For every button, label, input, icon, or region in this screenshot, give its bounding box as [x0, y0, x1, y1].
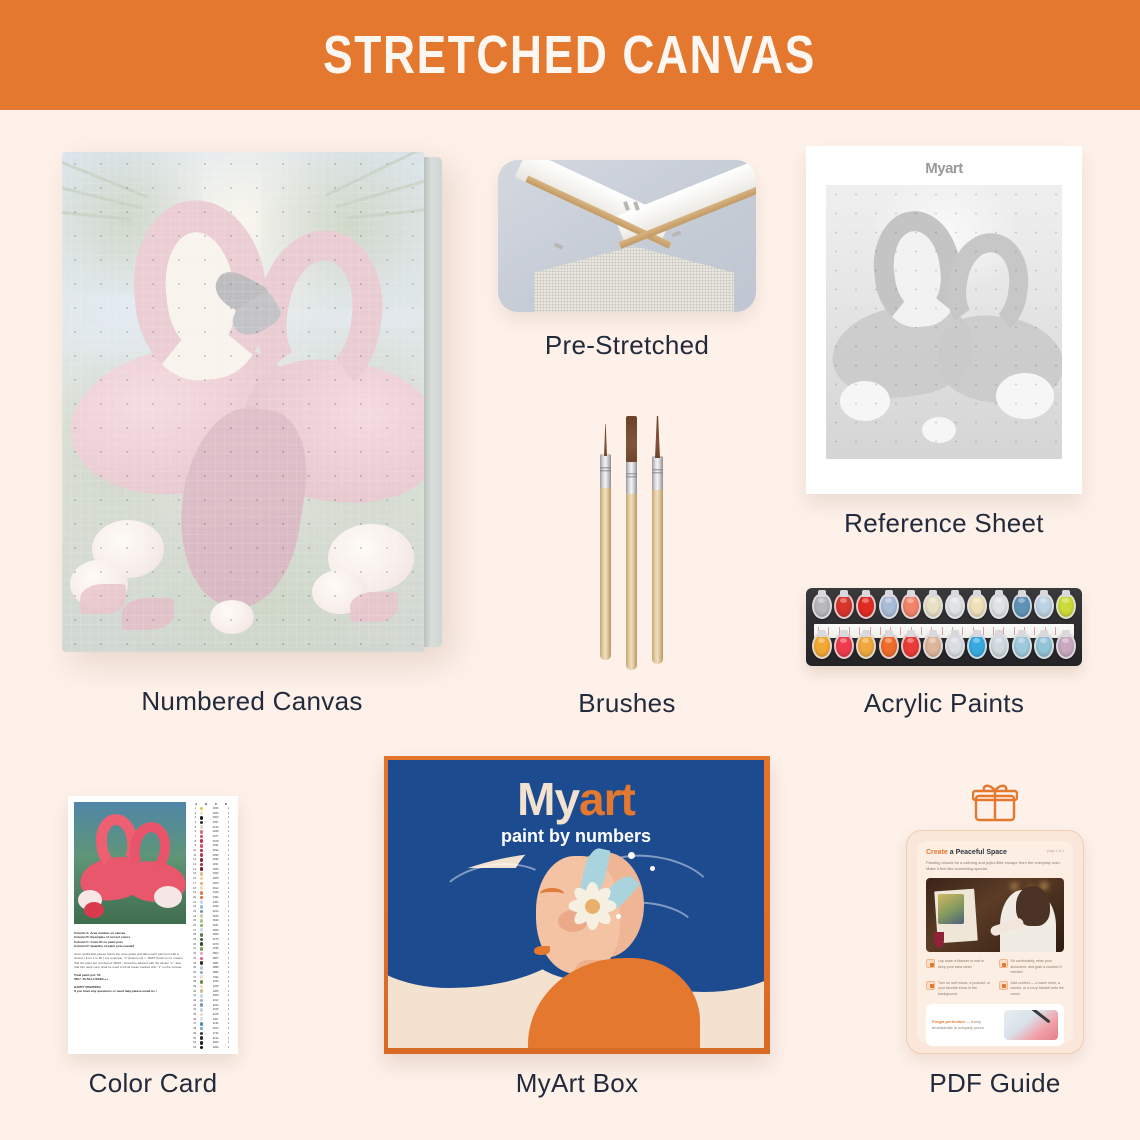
cc-note: when applicable,please follow the color … [74, 952, 186, 970]
paint-pot [901, 593, 921, 619]
pre-stretched-image [498, 160, 756, 312]
decor-dot [650, 866, 655, 871]
brush-ferrule [626, 460, 637, 494]
brush-bristles [626, 416, 637, 462]
myart-logo-text: Myart [826, 160, 1062, 177]
pdf-footer-text: Forget perfection — every brushstroke is… [932, 1019, 998, 1031]
cc-flower [84, 902, 104, 918]
color-card-instructions: Column A: Area number on canvas Column B… [74, 928, 186, 994]
paint-row-top [812, 593, 1076, 621]
cc-sku: SKU: 40-50-LUXS26+++ [74, 977, 108, 981]
label-numbered-canvas: Numbered Canvas [62, 686, 442, 717]
box-subtitle: paint by numbers [388, 826, 764, 847]
reference-artwork [826, 185, 1062, 459]
pdf-tips-grid: Lay down a blanket or mat to keep your a… [926, 959, 1064, 997]
pdf-tip: Sit comfortably, relax your shoulders, a… [999, 959, 1065, 976]
pdf-heading-highlight: Create [926, 849, 948, 856]
acrylic-paints-image [806, 588, 1082, 666]
reference-sheet-image: Myart [806, 146, 1082, 494]
tip-icon [926, 981, 935, 990]
cc-column-b: Column B: Examples of correct colors [74, 935, 130, 939]
tip-text: Add comfort — a warm drink, a candle, or… [1011, 981, 1065, 998]
brush-ferrule [652, 456, 663, 490]
color-card-image: Column A: Area number on canvas Column B… [68, 796, 238, 1054]
canvas-depth-edge [424, 157, 442, 647]
label-color-card: Color Card [48, 1068, 258, 1099]
paint-pot [1012, 633, 1032, 659]
daisy-flower-icon [566, 880, 618, 932]
brushes-image [596, 390, 666, 670]
paint-pot [989, 593, 1009, 619]
paint-pot [856, 633, 876, 659]
label-myart-box: MyArt Box [384, 1068, 770, 1099]
cc-contact: If you have any questions or need help,p… [74, 989, 157, 993]
myart-box-image: Myart paint by numbers [384, 756, 770, 1054]
pdf-tip: Lay down a blanket or mat to keep your a… [926, 959, 992, 976]
brush-ferrule [600, 454, 611, 488]
paint-pot [1034, 593, 1054, 619]
cc-column-d: Column D: Quantity of paint pots needed [74, 944, 134, 948]
paint-pot [879, 633, 899, 659]
brush-liner [600, 425, 611, 660]
photo-painting [938, 894, 964, 924]
pdf-photo [926, 878, 1064, 952]
canvas-back-weave [534, 246, 734, 312]
pdf-heading-rest: a Peaceful Space [948, 849, 1007, 856]
label-acrylic-paints: Acrylic Paints [806, 688, 1082, 719]
paint-pot [812, 633, 832, 659]
paint-pot [945, 593, 965, 619]
paint-pot [989, 633, 1009, 659]
ref-number-dots [826, 185, 1062, 459]
paint-pot [1056, 593, 1076, 619]
paint-pot [945, 633, 965, 659]
cc-table-row: 5220601 [190, 1045, 232, 1050]
closed-eye [540, 888, 564, 900]
paint-pot [923, 593, 943, 619]
brush-round [652, 414, 663, 664]
pdf-heading: Create a Peaceful Space [926, 849, 1064, 856]
cc-column-a: Column A: Area number on canvas [74, 931, 125, 935]
pdf-footer-box: Forget perfection — every brushstroke is… [926, 1004, 1064, 1046]
label-pre-stretched: Pre-Stretched [498, 330, 756, 361]
page-header: STRETCHED CANVAS [0, 0, 1140, 110]
box-logo-art: art [579, 773, 635, 825]
pdf-guide-page: page 1 of 1 Create a Peaceful Space Pain… [917, 841, 1073, 1043]
numbered-canvas-image [62, 152, 442, 652]
pbn-outline-grid [62, 152, 424, 652]
gift-icon [972, 782, 1018, 822]
paint-pot [1012, 593, 1032, 619]
box-logo: Myart [388, 776, 764, 822]
canvas-face [62, 152, 424, 652]
pdf-tip: Add comfort — a warm drink, a candle, or… [999, 981, 1065, 998]
tip-text: Lay down a blanket or mat to keep your a… [938, 959, 992, 970]
staple-icon [672, 230, 682, 237]
pdf-intro-text: Painting should be a calming and joyful … [926, 860, 1064, 872]
cc-column-c: Column C: Color ID on paint pots [74, 940, 123, 944]
brush-bristles [604, 424, 607, 456]
paint-pot [834, 593, 854, 619]
decor-dot [628, 852, 635, 859]
tip-icon [999, 959, 1008, 968]
box-front-face: Myart paint by numbers [388, 760, 764, 1048]
brush-bristles [655, 416, 660, 458]
paint-pot [967, 633, 987, 659]
paint-pot [1056, 633, 1076, 659]
page-title: STRETCHED CANVAS [324, 24, 817, 86]
paint-pot [901, 633, 921, 659]
cc-table-rows: 1006012006313000314009715014016002817007… [190, 806, 232, 1050]
cc-happy: HAPPY PAINTING! [74, 985, 101, 989]
paint-pot [834, 633, 854, 659]
pdf-tip: Turn on soft music, a podcast, or your f… [926, 981, 992, 998]
cc-total: Total paint pot: 50 [74, 973, 100, 977]
tip-text: Turn on soft music, a podcast, or your f… [938, 981, 992, 998]
label-reference-sheet: Reference Sheet [806, 508, 1082, 539]
pdf-footer-highlight: Forget perfection [932, 1019, 965, 1024]
tip-icon [926, 959, 935, 968]
label-brushes: Brushes [498, 688, 756, 719]
color-card-left-column: Column A: Area number on canvas Column B… [74, 802, 186, 1048]
brush-handle [626, 490, 637, 670]
pdf-guide-image: page 1 of 1 Create a Peaceful Space Pain… [906, 782, 1084, 1054]
staple-icon [554, 242, 564, 249]
decor-dot [616, 914, 621, 919]
paint-pot [856, 593, 876, 619]
paint-row-bottom [812, 633, 1076, 661]
paint-pot [879, 593, 899, 619]
brush-handle [600, 484, 611, 660]
brush-flat [626, 408, 637, 670]
cc-flower [154, 886, 182, 908]
paint-pot [923, 633, 943, 659]
photo-wine-glass [934, 932, 944, 948]
box-logo-my: My [517, 773, 579, 825]
color-card-code-table: A B C D 10060120063130003140097150140160… [190, 802, 232, 1048]
pdf-page-label: page 1 of 1 [1047, 849, 1064, 853]
lips [534, 946, 550, 955]
paint-pot [1034, 633, 1054, 659]
tip-icon [999, 981, 1008, 990]
pdf-footer-image [1004, 1010, 1058, 1040]
label-pdf-guide: PDF Guide [890, 1068, 1100, 1099]
color-card-artwork [74, 802, 186, 924]
tip-text: Sit comfortably, relax your shoulders, a… [1011, 959, 1065, 976]
brush-handle [652, 486, 663, 664]
paint-pot [967, 593, 987, 619]
paint-pot [812, 593, 832, 619]
pdf-guide-card: page 1 of 1 Create a Peaceful Space Pain… [906, 830, 1084, 1054]
